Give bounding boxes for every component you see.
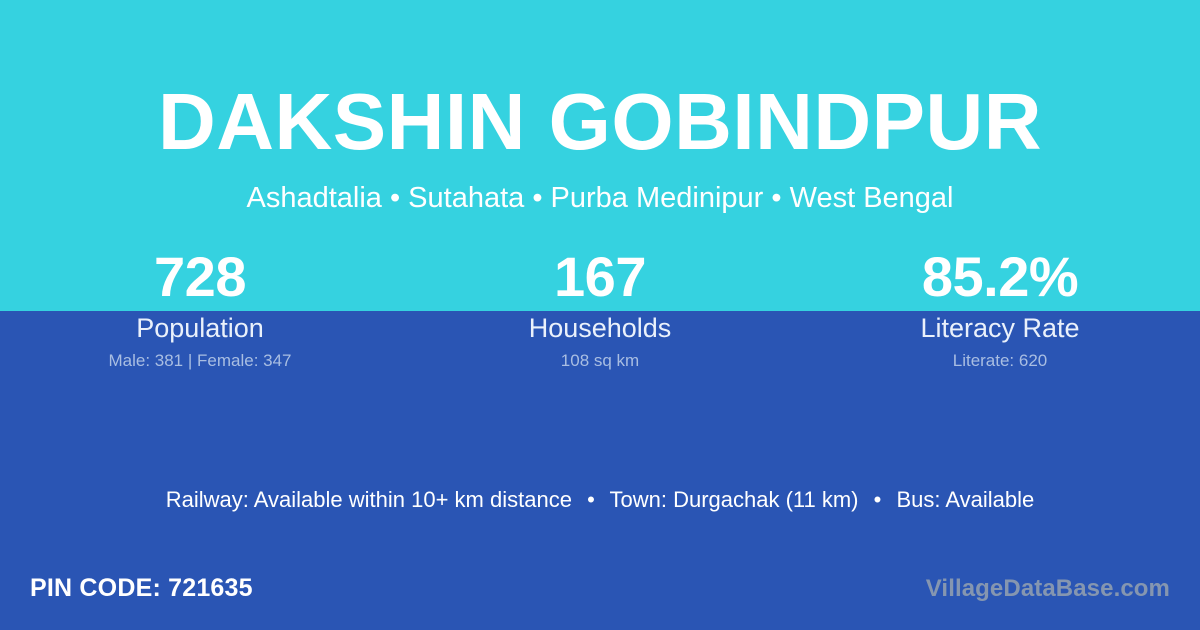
transport-bus: Bus: Available	[896, 487, 1034, 512]
breadcrumb: Ashadtalia • Sutahata • Purba Medinipur …	[0, 181, 1200, 216]
stat-sub-population: Male: 381 | Female: 347	[0, 350, 400, 371]
stats-row: 728 Population Male: 381 | Female: 347 1…	[0, 243, 1200, 371]
transport-railway: Railway: Available within 10+ km distanc…	[166, 487, 572, 512]
stat-households: 167 Households 108 sq km	[400, 243, 800, 371]
transport-town: Town: Durgachak (11 km)	[609, 487, 858, 512]
transport-info: Railway: Available within 10+ km distanc…	[0, 485, 1200, 515]
stat-value-literacy-rate: 85.2%	[800, 243, 1200, 311]
stat-label-households: Households	[400, 312, 800, 345]
transport-separator-1: •	[578, 485, 604, 515]
pin-code: PIN CODE: 721635	[30, 572, 253, 604]
stat-label-literacy-rate: Literacy Rate	[800, 312, 1200, 345]
stat-literacy-rate: 85.2% Literacy Rate Literate: 620	[800, 243, 1200, 371]
stat-value-households: 167	[400, 243, 800, 311]
stat-sub-households: 108 sq km	[400, 350, 800, 371]
site-watermark: VillageDataBase.com	[926, 574, 1170, 604]
page-title: DAKSHIN GOBINDPUR	[0, 82, 1200, 162]
village-info-card: DAKSHIN GOBINDPUR Ashadtalia • Sutahata …	[0, 0, 1200, 630]
stat-label-population: Population	[0, 312, 400, 345]
transport-separator-2: •	[865, 485, 891, 515]
stat-population: 728 Population Male: 381 | Female: 347	[0, 243, 400, 371]
footer: PIN CODE: 721635 VillageDataBase.com	[0, 560, 1200, 630]
stat-sub-literacy-rate: Literate: 620	[800, 350, 1200, 371]
stat-value-population: 728	[0, 243, 400, 311]
